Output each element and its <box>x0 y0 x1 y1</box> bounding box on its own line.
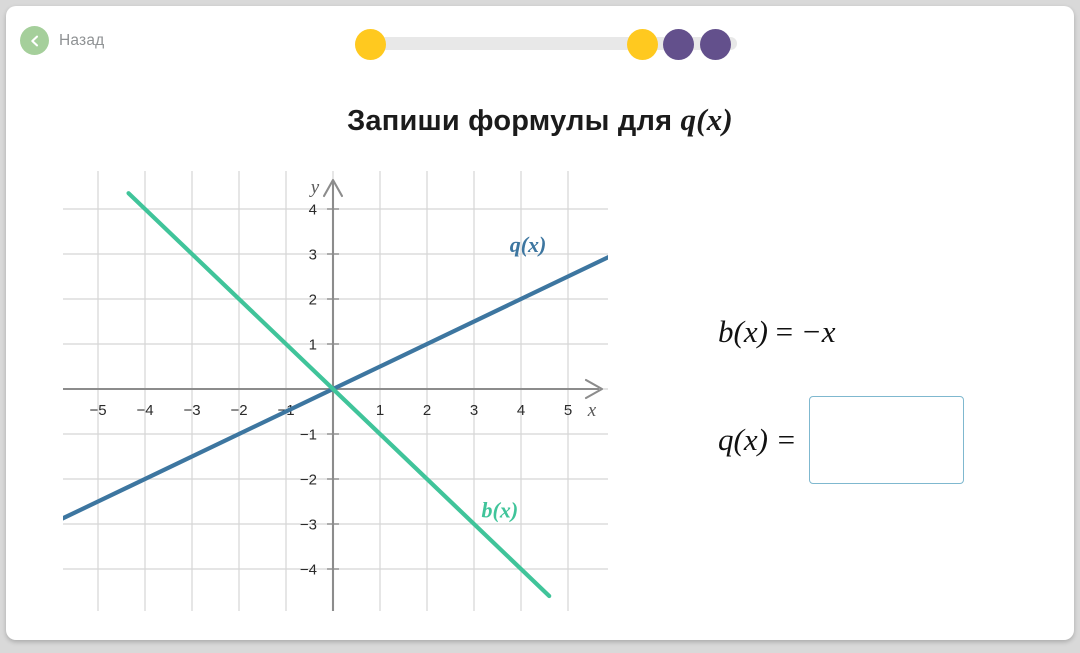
formula-q-of-x: q(x) = <box>718 396 964 484</box>
svg-text:−4: −4 <box>300 562 317 579</box>
lesson-card: Назад Запиши формулы для q(x) −5−4−3−2−1… <box>6 6 1074 640</box>
svg-text:y: y <box>309 177 320 198</box>
back-button[interactable]: Назад <box>20 26 104 55</box>
svg-text:−3: −3 <box>300 517 317 534</box>
progress-dot-4[interactable] <box>700 29 731 60</box>
formula-b-label: b(x) <box>718 314 768 349</box>
formula-b-of-x: b(x) = −x <box>718 314 836 350</box>
header-bar: Назад <box>6 6 1074 76</box>
coordinate-plane: −5−4−3−2−1123454321−1−2−3−4 q(x)b(x) yx <box>63 171 608 611</box>
progress-dot-3[interactable] <box>663 29 694 60</box>
page-title-variable: q(x) <box>680 102 732 137</box>
page-title-text: Запиши формулы для <box>347 105 680 137</box>
svg-text:1: 1 <box>376 402 384 419</box>
svg-text:−2: −2 <box>300 472 317 489</box>
svg-text:4: 4 <box>309 202 317 219</box>
progress-dot-1[interactable] <box>355 29 386 60</box>
svg-text:2: 2 <box>423 402 431 419</box>
graph-svg: −5−4−3−2−1123454321−1−2−3−4 q(x)b(x) yx <box>63 171 608 611</box>
svg-text:1: 1 <box>309 337 317 354</box>
formula-panel: b(x) = −x q(x) = <box>706 286 1036 546</box>
svg-text:x: x <box>587 400 597 421</box>
svg-text:5: 5 <box>564 402 572 419</box>
formula-b-equals: = <box>768 314 801 349</box>
svg-text:q(x): q(x) <box>510 232 547 257</box>
svg-text:−4: −4 <box>136 402 153 419</box>
back-label: Назад <box>59 32 104 50</box>
page-title: Запиши формулы для q(x) <box>6 102 1074 138</box>
svg-text:−5: −5 <box>89 402 106 419</box>
svg-text:−1: −1 <box>300 427 317 444</box>
svg-text:b(x): b(x) <box>482 497 519 522</box>
svg-text:2: 2 <box>309 292 317 309</box>
svg-text:−2: −2 <box>230 402 247 419</box>
answer-input[interactable] <box>809 396 964 484</box>
svg-text:3: 3 <box>309 247 317 264</box>
svg-text:4: 4 <box>517 402 525 419</box>
chevron-left-icon <box>20 26 49 55</box>
svg-text:−3: −3 <box>183 402 200 419</box>
progress-dot-2[interactable] <box>627 29 658 60</box>
formula-b-expression: −x <box>801 314 836 349</box>
svg-text:3: 3 <box>470 402 478 419</box>
progress-bar <box>355 37 737 50</box>
formula-q-label: q(x) = <box>718 422 797 458</box>
